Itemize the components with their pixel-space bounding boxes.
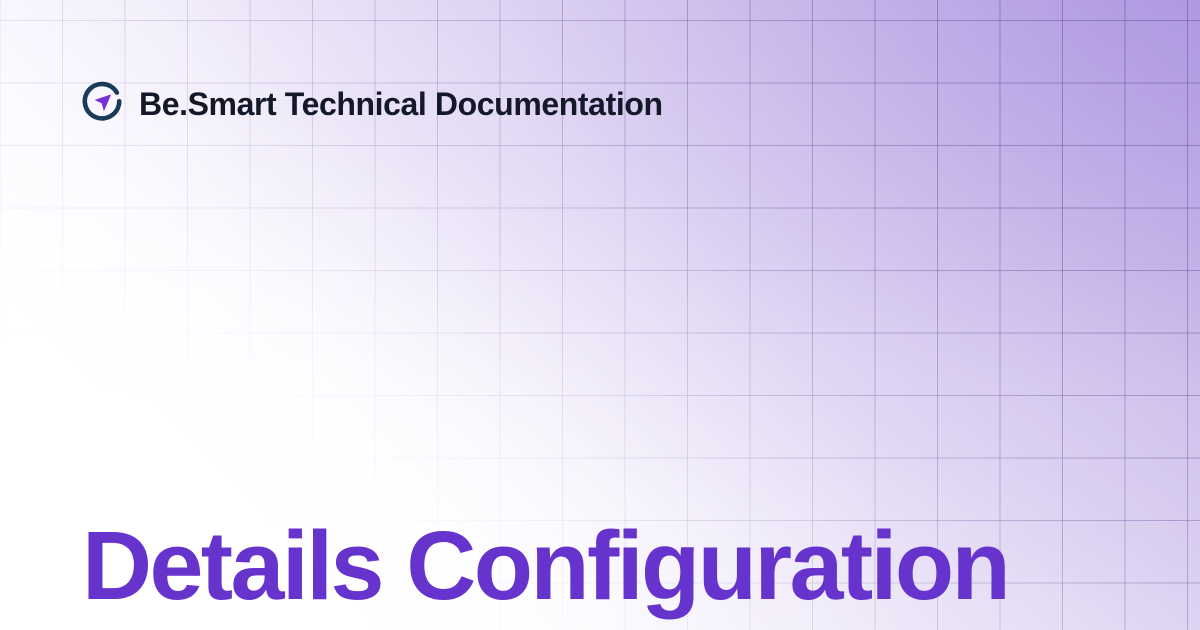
og-banner: Be.Smart Technical Documentation Details… — [0, 0, 1200, 630]
brand-name: Be.Smart Technical Documentation — [139, 88, 663, 120]
cursor-in-ring-icon — [80, 80, 126, 126]
banner-content: Be.Smart Technical Documentation Details… — [0, 0, 1200, 630]
page-title: Details Configuration — [82, 517, 1008, 614]
brand-row: Be.Smart Technical Documentation — [80, 79, 663, 127]
